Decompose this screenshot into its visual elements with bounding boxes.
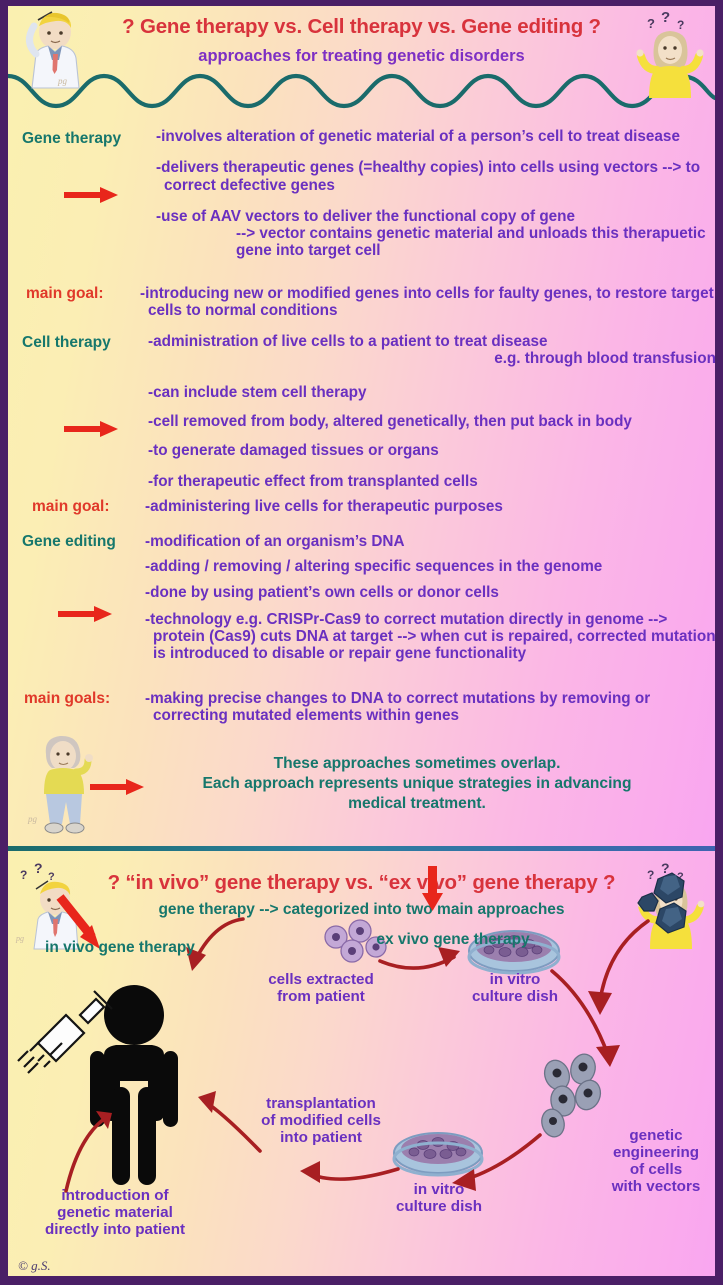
section-heading-gene-therapy: Gene therapy: [22, 130, 152, 148]
conclusion-text: These approaches sometimes overlap. Each…: [134, 754, 700, 813]
label-introduction-genetic-material: introduction of genetic material directl…: [12, 1187, 218, 1238]
bullet: e.g. through blood transfusion: [142, 350, 715, 367]
label-in-vitro-culture-dish-bottom: in vitro culture dish: [372, 1181, 506, 1215]
bullet: -administration of live cells to a patie…: [142, 333, 715, 350]
goal-text-cell-therapy: -administering live cells for therapeuti…: [139, 498, 715, 515]
svg-text:pg: pg: [27, 814, 38, 824]
engineered-cells-icon: [539, 1051, 605, 1139]
label-cells-extracted: cells extracted from patient: [240, 971, 402, 1005]
section-heading-gene-editing: Gene editing: [22, 533, 152, 551]
goal-label-gene-therapy: main goal:: [26, 285, 104, 303]
bullet: --> vector contains genetic material and…: [150, 225, 715, 260]
goal-label-gene-editing: main goals:: [24, 690, 110, 708]
bullet: -modification of an organism’s DNA: [139, 533, 715, 550]
label-genetic-engineering: genetic engineering of cells with vector…: [596, 1127, 715, 1195]
bullet: -delivers therapeutic genes (=healthy co…: [150, 159, 715, 194]
bullet: -to generate damaged tissues or organs: [142, 442, 715, 459]
red-arrow-icon: [62, 184, 120, 206]
svg-text:?: ?: [647, 16, 655, 31]
section-heading-cell-therapy: Cell therapy: [22, 334, 152, 352]
label-transplantation: transplantation of modified cells into p…: [230, 1095, 412, 1146]
panel-therapies-comparison: ? Gene therapy vs. Cell therapy vs. Gene…: [8, 6, 715, 846]
goal-text-gene-therapy: -introducing new or modified genes into …: [134, 285, 715, 320]
page-title: ? Gene therapy vs. Cell therapy vs. Gene…: [8, 15, 715, 39]
copyright-mark: © g.S.: [18, 1258, 51, 1274]
panel-invivo-exvivo: ? “in vivo” gene therapy vs. “ex vivo” g…: [8, 851, 715, 1276]
svg-text:pg: pg: [57, 76, 68, 86]
label-in-vivo-gene-therapy: in vivo gene therapy: [14, 939, 226, 956]
label-ex-vivo-gene-therapy: ex vivo gene therapy: [348, 931, 558, 948]
section-body-cell-therapy: -administration of live cells to a patie…: [142, 333, 715, 491]
section-body-gene-therapy: -involves alteration of genetic material…: [150, 128, 715, 260]
bullet: -cell removed from body, altered genetic…: [142, 413, 715, 430]
doctor-character-illustration: pg: [12, 8, 98, 94]
red-arrow-icon: [56, 603, 114, 625]
top-panel-header: ? Gene therapy vs. Cell therapy vs. Gene…: [8, 6, 715, 116]
confused-person-illustration: ? ? ?: [631, 12, 711, 104]
page-subtitle: approaches for treating genetic disorder…: [8, 47, 715, 66]
bullet: -adding / removing / altering specific s…: [139, 558, 715, 575]
bullet: -done by using patient’s own cells or do…: [139, 584, 715, 601]
svg-text:?: ?: [661, 12, 670, 26]
bullet: -for therapeutic effect from transplante…: [142, 473, 715, 490]
bullet: -use of AAV vectors to deliver the funct…: [150, 208, 715, 225]
bullet: -can include stem cell therapy: [142, 384, 715, 401]
goal-label-cell-therapy: main goal:: [32, 498, 110, 516]
wave-divider-graphic: [8, 66, 715, 116]
bullet: -technology e.g. CRISPr-Cas9 to correct …: [139, 611, 715, 663]
bullet: -involves alteration of genetic material…: [150, 128, 715, 145]
infographic-poster: ? Gene therapy vs. Cell therapy vs. Gene…: [0, 0, 723, 1285]
section-body-gene-editing: -modification of an organism’s DNA -addi…: [139, 533, 715, 663]
goal-text-gene-editing: -making precise changes to DNA to correc…: [139, 690, 715, 725]
red-arrow-icon: [62, 418, 120, 440]
patient-silhouette-icon: [90, 985, 178, 1185]
label-in-vitro-culture-dish-top: in vitro culture dish: [448, 971, 582, 1005]
svg-text:?: ?: [677, 18, 684, 32]
red-down-arrow-icon: [422, 866, 443, 911]
